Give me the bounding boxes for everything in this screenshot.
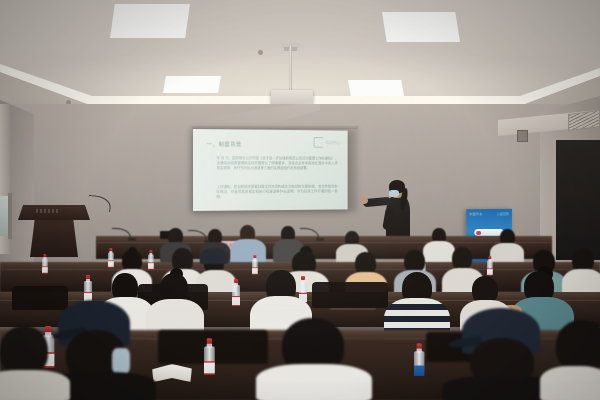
torso [0, 370, 70, 400]
water-bottle[interactable] [487, 256, 493, 272]
bottle-label [148, 262, 154, 269]
lectern-nameplate [36, 209, 58, 213]
banner-top-left-text: 中国节水 [469, 212, 482, 216]
water-bottle[interactable] [84, 275, 92, 297]
projector-drop-pole [289, 45, 292, 93]
bottle-body [148, 254, 154, 266]
bottle-body [84, 281, 92, 297]
water-bottle[interactable] [299, 276, 307, 298]
slide-paragraph-2: 上述通知、意见和相关配套制度文件共同构成本次培训的主要依据，本文件结合实际情况，… [217, 184, 338, 200]
bottle-label [42, 266, 48, 273]
desk-microphone-base [316, 238, 324, 241]
banner-top-right-text: 公益宣传 [497, 212, 509, 216]
torso [256, 364, 372, 400]
chair-back [312, 282, 388, 308]
water-bottle[interactable] [252, 255, 258, 271]
ceiling-light-panel-4 [348, 80, 404, 96]
bottle-label [487, 268, 493, 275]
head [556, 320, 600, 372]
wall-sensor-box [517, 130, 528, 142]
ceiling-light-panel-2 [382, 12, 460, 42]
slide-logo: 培训中心 [314, 137, 341, 148]
bottle-body [299, 282, 307, 298]
ceiling-light-panel-3 [163, 76, 221, 93]
doorway[interactable] [556, 140, 600, 260]
torso [540, 366, 600, 400]
bottle-label [252, 267, 258, 274]
sprinkler-icon [258, 50, 263, 55]
water-bottle[interactable] [148, 250, 154, 266]
bottle-body [414, 351, 424, 372]
chair-back [12, 286, 68, 310]
bottle-label [204, 361, 215, 375]
slide-logo-mark-icon [314, 137, 324, 148]
head [452, 247, 472, 270]
slide-heading: 一、制度背景 [207, 140, 242, 148]
bottle-body [252, 259, 258, 271]
bottle-label [108, 260, 114, 267]
presenter-face-mask [389, 190, 399, 197]
bottle-body [42, 258, 48, 270]
bottle-label [414, 366, 424, 376]
slide-logo-text: 培训中心 [326, 140, 341, 146]
baseball-cap [200, 248, 228, 264]
water-bottle[interactable] [414, 343, 424, 372]
bottle-label [232, 296, 240, 306]
bottle-body [232, 285, 240, 301]
water-bottle[interactable] [42, 254, 48, 270]
screen-roller-housing [192, 124, 358, 129]
head [0, 326, 48, 376]
bottle-body [204, 346, 215, 368]
lectern-body [30, 219, 78, 257]
water-bottle[interactable] [232, 279, 240, 301]
window-frame [8, 193, 12, 239]
lecture-hall-photo: 培训中心 一、制度背景 年 月 日，国务院办公厅印发《关于进一步加强和规范公务活… [0, 0, 600, 400]
projection-screen: 培训中心 一、制度背景 年 月 日，国务院办公厅印发《关于进一步加强和规范公务活… [193, 129, 348, 211]
slide-paragraph-1: 年 月 日，国务院办公厅印发《关于进一步加强和规范公务活动管理工作的通知》，该通… [217, 156, 338, 171]
ceiling-light-panel-1 [110, 4, 190, 38]
water-bottle[interactable] [108, 248, 114, 264]
desk-microphone-base [128, 238, 136, 241]
face-mask [112, 348, 130, 374]
water-bottle[interactable] [204, 338, 215, 368]
bottle-body [108, 252, 114, 264]
bottle-body [487, 260, 493, 272]
